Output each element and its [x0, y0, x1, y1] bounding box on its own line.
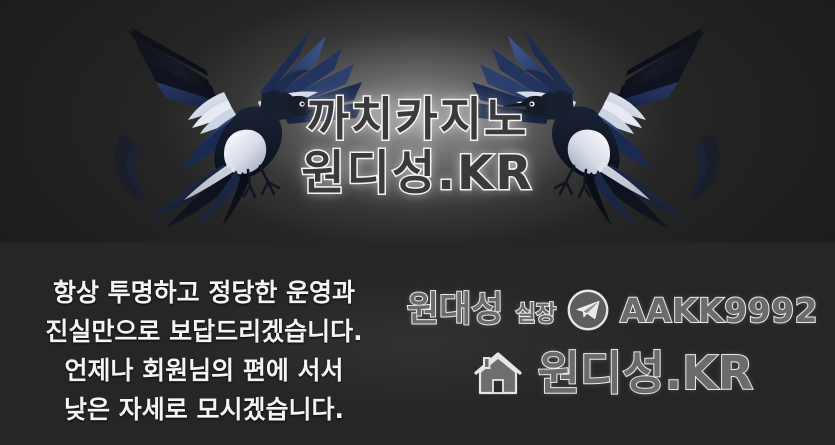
slogan-line-1: 항상 투명하고 정당한 운영과 — [18, 273, 390, 312]
manager-role: 실장 — [516, 304, 556, 326]
slogan-line-3: 언제나 회원님의 편에 서서 — [18, 351, 390, 390]
slogan-line-2: 진실만으로 보답드리겠습니다. — [18, 312, 390, 351]
magpie-illustration-left — [112, 14, 372, 229]
site-url-row[interactable]: 원디성.KR — [400, 338, 825, 408]
slogan-line-4: 낮은 자세로 모시겠습니다. — [18, 390, 390, 429]
casino-promo-banner: 까치카지노 원디성.KR 항상 투명하고 정당한 운영과 진실만으로 보답드리겠… — [0, 0, 835, 445]
site-url[interactable]: 원디성.KR — [538, 350, 754, 396]
home-icon[interactable] — [472, 348, 524, 398]
telegram-id[interactable]: AAKK9992 — [620, 294, 818, 327]
magpie-illustration-right — [462, 14, 722, 229]
slogan-block: 항상 투명하고 정당한 운영과 진실만으로 보답드리겠습니다. 언제나 회원님의… — [18, 273, 390, 429]
telegram-icon[interactable] — [566, 288, 610, 332]
manager-name: 원대성 — [407, 293, 504, 328]
hero-section — [0, 0, 835, 243]
contact-block: 원대성 실장 AAKK9992 원디성.KR — [400, 282, 825, 408]
telegram-contact-row[interactable]: 원대성 실장 AAKK9992 — [400, 282, 825, 338]
